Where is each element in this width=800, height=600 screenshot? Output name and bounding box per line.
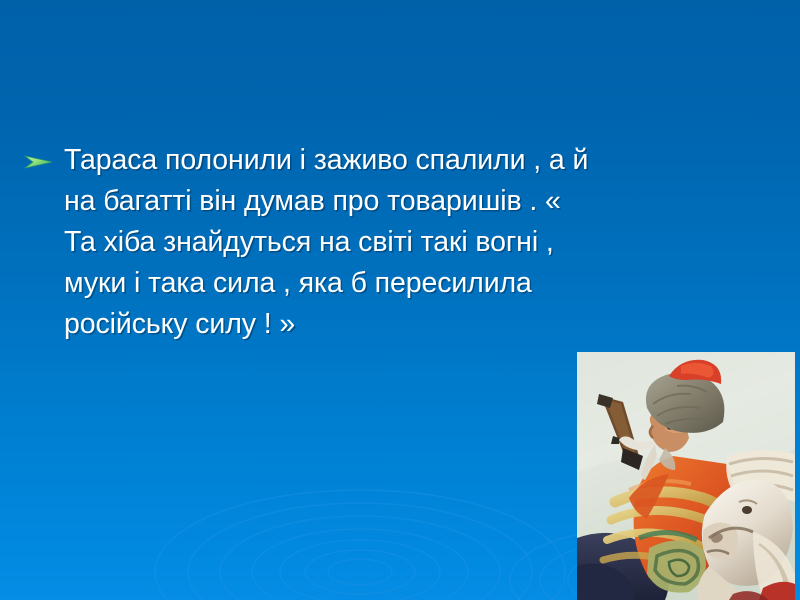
green-arrowhead-bullet-icon [24,153,54,171]
bullet-paragraph: Тараса полонили і заживо спалили , а й н… [24,140,764,345]
slide-body-text: Тараса полонили і заживо спалили , а й н… [64,140,724,345]
cossack-painting-svg [577,352,795,600]
cossack-painting-image [577,352,795,600]
presentation-slide: Тараса полонили і заживо спалили , а й н… [0,0,800,600]
bullet-marker [24,140,64,176]
